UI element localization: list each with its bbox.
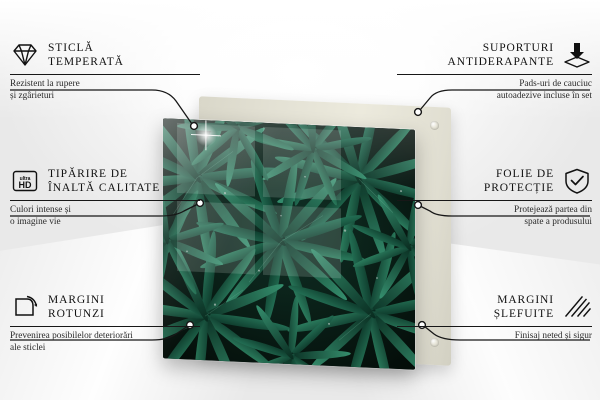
infographic-canvas: STICLĂ TEMPERATĂ Rezistent la rupere și … <box>0 0 600 400</box>
feature-divider <box>10 326 200 327</box>
feature-header: ultra HD TIPĂRIRE DE ÎNALTĂ CALITATE <box>10 166 200 196</box>
feature-rounded-corners: MARGINI ROTUNZI Prevenirea posibilelor d… <box>10 292 200 354</box>
feature-divider <box>10 74 200 75</box>
feature-divider <box>10 200 200 201</box>
feature-description: Pads-uri de cauciuc autoadezive incluse … <box>397 79 592 102</box>
feature-divider <box>397 326 592 327</box>
press-pad-icon <box>562 40 592 70</box>
feature-anti-slip-pads: SUPORTURI ANTIDERAPANTE Pads-uri de cauc… <box>397 40 592 102</box>
ultra-hd-icon: ultra HD <box>10 166 40 196</box>
feature-description: Protejează partea din spate a produsului <box>397 205 592 228</box>
feature-hd-print: ultra HD TIPĂRIRE DE ÎNALTĂ CALITATE Cul… <box>10 166 200 228</box>
feature-title: FOLIE DE PROTECȚIE <box>484 167 554 195</box>
feature-protective-foil: FOLIE DE PROTECȚIE Protejează partea din… <box>397 166 592 228</box>
svg-text:HD: HD <box>19 180 32 190</box>
diamond-icon <box>10 40 40 70</box>
feature-header: STICLĂ TEMPERATĂ <box>10 40 200 70</box>
feature-polished-edges: MARGINI ȘLEFUITE Finisaj neted și sigur <box>397 292 592 343</box>
feature-title: SUPORTURI ANTIDERAPANTE <box>448 41 554 69</box>
feature-header: FOLIE DE PROTECȚIE <box>397 166 592 196</box>
feature-tempered-glass: STICLĂ TEMPERATĂ Rezistent la rupere și … <box>10 40 200 102</box>
glass-panel <box>163 118 415 369</box>
feature-divider <box>397 200 592 201</box>
feature-header: MARGINI ȘLEFUITE <box>397 292 592 322</box>
rounded-corner-icon <box>10 292 40 322</box>
feature-description: Finisaj neted și sigur <box>397 331 592 343</box>
feature-title: TIPĂRIRE DE ÎNALTĂ CALITATE <box>48 167 160 195</box>
diagonal-lines-icon <box>562 292 592 322</box>
leaf-artwork <box>163 118 415 369</box>
feature-title: STICLĂ TEMPERATĂ <box>48 41 124 69</box>
feature-description: Prevenirea posibilelor deteriorări ale s… <box>10 331 200 354</box>
rubber-pad-top-right <box>430 121 439 130</box>
feature-title: MARGINI ROTUNZI <box>48 293 105 321</box>
feature-header: MARGINI ROTUNZI <box>10 292 200 322</box>
shield-check-icon <box>562 166 592 196</box>
feature-header: SUPORTURI ANTIDERAPANTE <box>397 40 592 70</box>
feature-divider <box>397 74 592 75</box>
feature-description: Rezistent la rupere și zgârieturi <box>10 79 200 102</box>
feature-description: Culori intense și o imagine vie <box>10 205 200 228</box>
feature-title: MARGINI ȘLEFUITE <box>494 293 554 321</box>
